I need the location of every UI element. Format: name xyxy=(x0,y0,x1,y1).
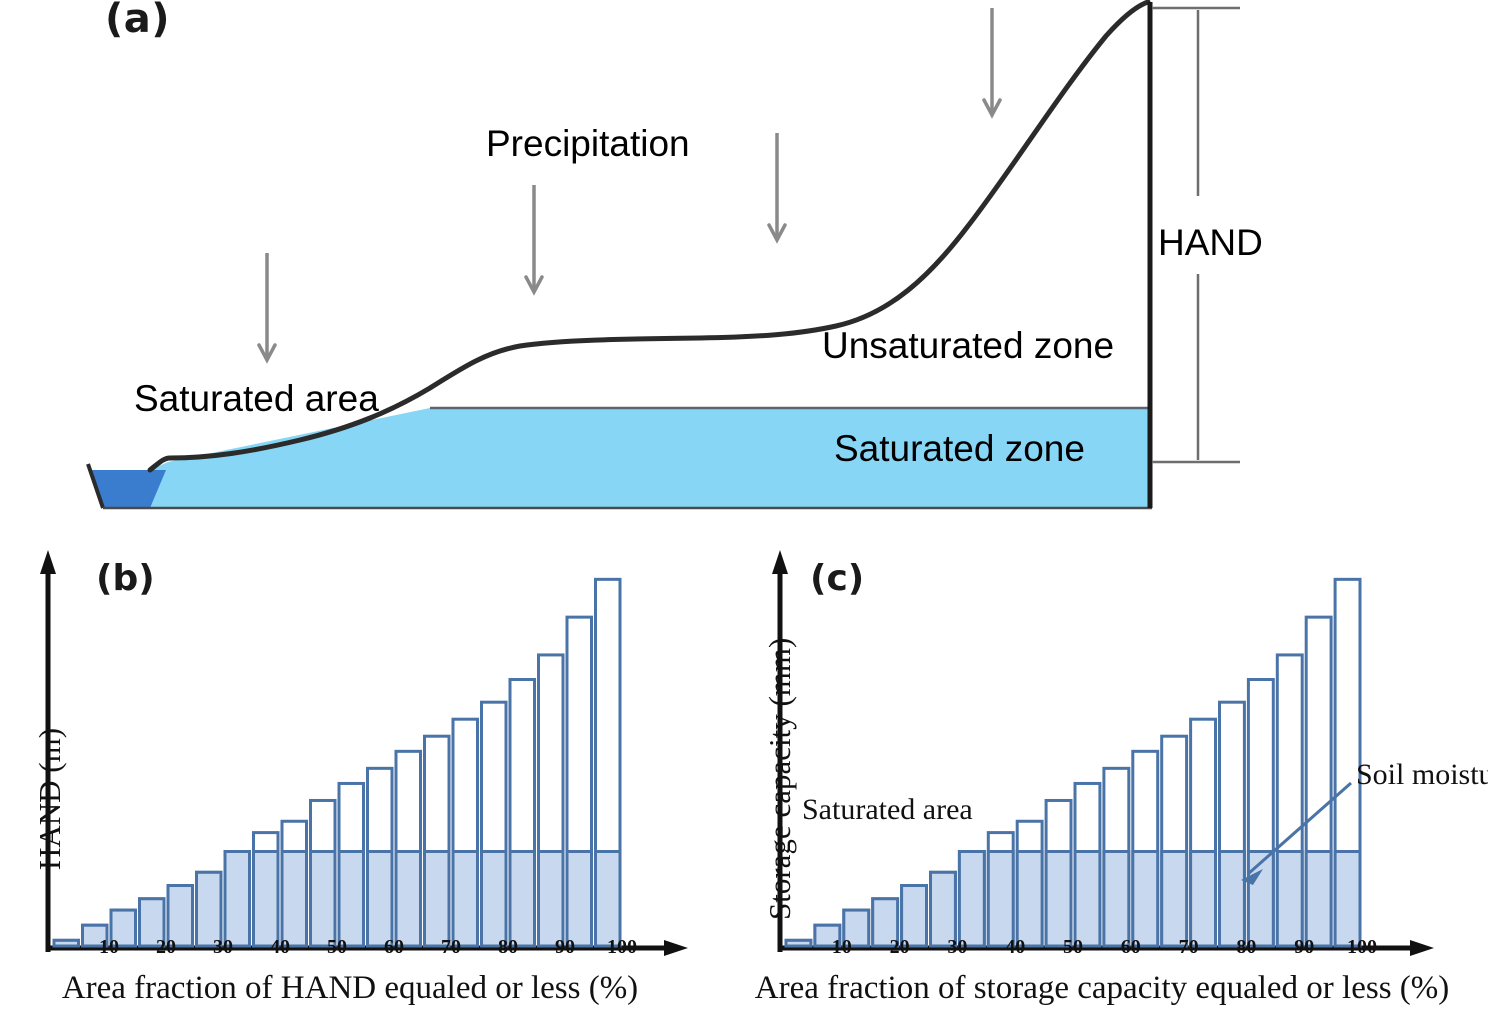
precipitation-arrow-3 xyxy=(769,133,785,240)
precipitation-arrow-1 xyxy=(259,253,275,360)
bar-saturated-portion xyxy=(1191,852,1216,947)
saturated-zone-label: Saturated zone xyxy=(834,428,1085,470)
bar-saturated-portion xyxy=(396,852,421,947)
bar-saturated-portion xyxy=(254,852,279,947)
saturated-area-label: Saturated area xyxy=(134,378,379,420)
bar-saturated-portion xyxy=(1248,852,1273,947)
bar-saturated-portion xyxy=(282,852,307,947)
x-tick-label: 40 xyxy=(990,936,1040,959)
hand-label: HAND xyxy=(1158,222,1263,264)
bar-saturated-portion xyxy=(1075,852,1100,947)
x-tick-label: 50 xyxy=(1048,936,1098,959)
panel-a-tag: (a) xyxy=(105,0,170,42)
bar-saturated-portion xyxy=(539,852,564,947)
bar-saturated-portion xyxy=(1162,852,1187,947)
x-tick-label: 80 xyxy=(1221,936,1271,959)
precipitation-arrow-4 xyxy=(984,8,1000,115)
hillslope-drawing xyxy=(0,0,1488,540)
x-tick-label: 100 xyxy=(597,936,647,959)
bar-saturated-portion xyxy=(786,940,811,946)
panel-b-tag: (b) xyxy=(96,558,155,599)
panel-c-storage-capacity-distribution: (c) Storage capacity (mm) Saturated area… xyxy=(722,540,1488,1019)
x-tick-label: 60 xyxy=(369,936,419,959)
x-tick-label: 70 xyxy=(426,936,476,959)
bar-saturated-portion xyxy=(567,852,592,947)
panel-c-bar-series xyxy=(786,579,1360,946)
bar-saturated-portion xyxy=(54,940,79,946)
panel-b-bar-series xyxy=(54,579,620,946)
panel-b-y-axis-label: HAND (m) xyxy=(32,728,68,870)
x-tick-label: 50 xyxy=(312,936,362,959)
x-tick-label: 40 xyxy=(255,936,305,959)
bar-saturated-portion xyxy=(1335,852,1360,947)
unsaturated-zone-label: Unsaturated zone xyxy=(822,325,1114,367)
x-tick-label: 20 xyxy=(875,936,925,959)
x-tick-label: 90 xyxy=(540,936,590,959)
panel-c-x-axis-label: Area fraction of storage capacity equale… xyxy=(732,970,1472,1007)
precipitation-label: Precipitation xyxy=(486,123,690,165)
bar-saturated-portion xyxy=(931,872,956,946)
x-tick-label: 10 xyxy=(84,936,134,959)
x-tick-label: 30 xyxy=(198,936,248,959)
panel-a-hillslope-schematic: (a) Precipitation Saturated area Unsatur… xyxy=(0,0,1488,540)
panel-c-y-axis-label: Storage capacity (mm) xyxy=(762,638,798,920)
x-tick-label: 100 xyxy=(1337,936,1387,959)
x-tick-label: 20 xyxy=(141,936,191,959)
bar-saturated-portion xyxy=(453,852,478,947)
x-tick-label: 60 xyxy=(1106,936,1156,959)
bar-saturated-portion xyxy=(197,872,222,946)
panel-c-saturated-area-annotation: Saturated area xyxy=(802,793,973,827)
bar-saturated-portion xyxy=(1133,852,1158,947)
panel-b-x-axis-label: Area fraction of HAND equaled or less (%… xyxy=(0,970,700,1007)
bar-saturated-portion xyxy=(225,852,250,947)
bar-saturated-portion xyxy=(1277,852,1302,947)
figure-root: (a) Precipitation Saturated area Unsatur… xyxy=(0,0,1488,1019)
bar-saturated-portion xyxy=(1220,852,1245,947)
x-tick-label: 70 xyxy=(1164,936,1214,959)
bar-saturated-portion xyxy=(425,852,450,947)
bar-saturated-portion xyxy=(596,852,621,947)
bar-saturated-portion xyxy=(1306,852,1331,947)
bar-saturated-portion xyxy=(482,852,507,947)
x-tick-label: 90 xyxy=(1279,936,1329,959)
bar-saturated-portion xyxy=(1046,852,1071,947)
x-tick-label: 30 xyxy=(932,936,982,959)
bar-saturated-portion xyxy=(988,852,1013,947)
bar-saturated-portion xyxy=(1104,852,1129,947)
x-tick-label: 10 xyxy=(817,936,867,959)
bar-saturated-portion xyxy=(368,852,393,947)
bar-saturated-portion xyxy=(510,852,535,947)
bar-saturated-portion xyxy=(1017,852,1042,947)
x-tick-label: 80 xyxy=(483,936,533,959)
precipitation-arrow-2 xyxy=(526,185,542,292)
panel-c-soil-moisture-annotation: Soil moisture xyxy=(1356,758,1488,792)
panel-c-tag: (c) xyxy=(810,558,864,599)
bar-saturated-portion xyxy=(959,852,984,947)
bar-saturated-portion xyxy=(311,852,336,947)
panel-b-hand-distribution: (b) HAND (m) 102030405060708090100 Area … xyxy=(0,540,722,1019)
bar-saturated-portion xyxy=(339,852,364,947)
